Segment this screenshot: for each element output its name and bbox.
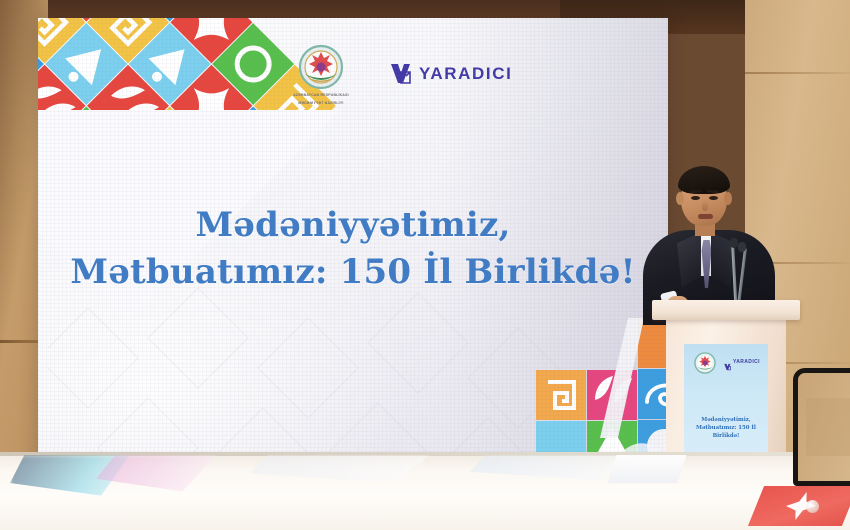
- yaradici-wordmark: YARADICI: [419, 64, 512, 84]
- mouth: [698, 214, 713, 219]
- ear-right: [724, 192, 732, 205]
- podium-top-ledge: [652, 300, 800, 320]
- podium-headline: Mədəniyyətimiz, Mətbuatımız: 150 İl Birl…: [684, 416, 768, 440]
- ministry-caption-line2: MƏDƏNİYYƏT NAZİRLİYİ: [266, 101, 376, 106]
- event-photo: AZƏRBAYCAN RESPUBLİKASI MƏDƏNİYYƏT NAZİR…: [0, 0, 850, 530]
- hair: [678, 166, 730, 194]
- ministry-caption-line1: AZƏRBAYCAN RESPUBLİKASI: [266, 93, 376, 98]
- stage-backdrop: AZƏRBAYCAN RESPUBLİKASI MƏDƏNİYYƏT NAZİR…: [38, 18, 668, 492]
- yaradici-logo-block: YARADICI: [390, 62, 512, 86]
- microphone-head-1: [738, 242, 746, 252]
- headline-line-1: Mədəniyyətimiz,: [38, 204, 668, 246]
- headline-line-2: Mətbuatımız: 150 İl Birlikdə!: [38, 250, 668, 294]
- backdrop-logo-row: AZƏRBAYCAN RESPUBLİKASI MƏDƏNİYYƏT NAZİR…: [38, 44, 668, 124]
- backdrop-headline: Mədəniyyətimiz, Mətbuatımız: 150 İl Birl…: [38, 204, 668, 294]
- microphone-head-2: [730, 238, 738, 248]
- drinking-glass: [806, 500, 819, 513]
- nose: [702, 200, 708, 211]
- podium-yaradici-block: YARADICI: [724, 358, 760, 366]
- podium-headline-line-1: Mədəniyyətimiz,: [684, 416, 768, 424]
- podium-headline-line-2: Mətbuatımız: 150 İl Birlikdə!: [684, 424, 768, 440]
- speaker: [645, 170, 770, 320]
- podium-yaradici-wordmark: YARADICI: [733, 359, 760, 365]
- podium-ministry-emblem-icon: [694, 352, 716, 374]
- table-paper: [607, 455, 686, 483]
- podium-logo-row: YARADICI: [684, 352, 768, 378]
- eye-left: [691, 196, 700, 200]
- ear-left: [676, 192, 684, 205]
- chair-backrest: [806, 398, 850, 456]
- yaradici-mark-icon: [390, 62, 412, 86]
- eye-right: [709, 196, 718, 200]
- podium-yaradici-mark-icon: [724, 358, 731, 366]
- ministry-emblem-icon: [298, 44, 344, 90]
- ministry-emblem-block: AZƏRBAYCAN RESPUBLİKASI MƏDƏNİYYƏT NAZİR…: [266, 44, 376, 105]
